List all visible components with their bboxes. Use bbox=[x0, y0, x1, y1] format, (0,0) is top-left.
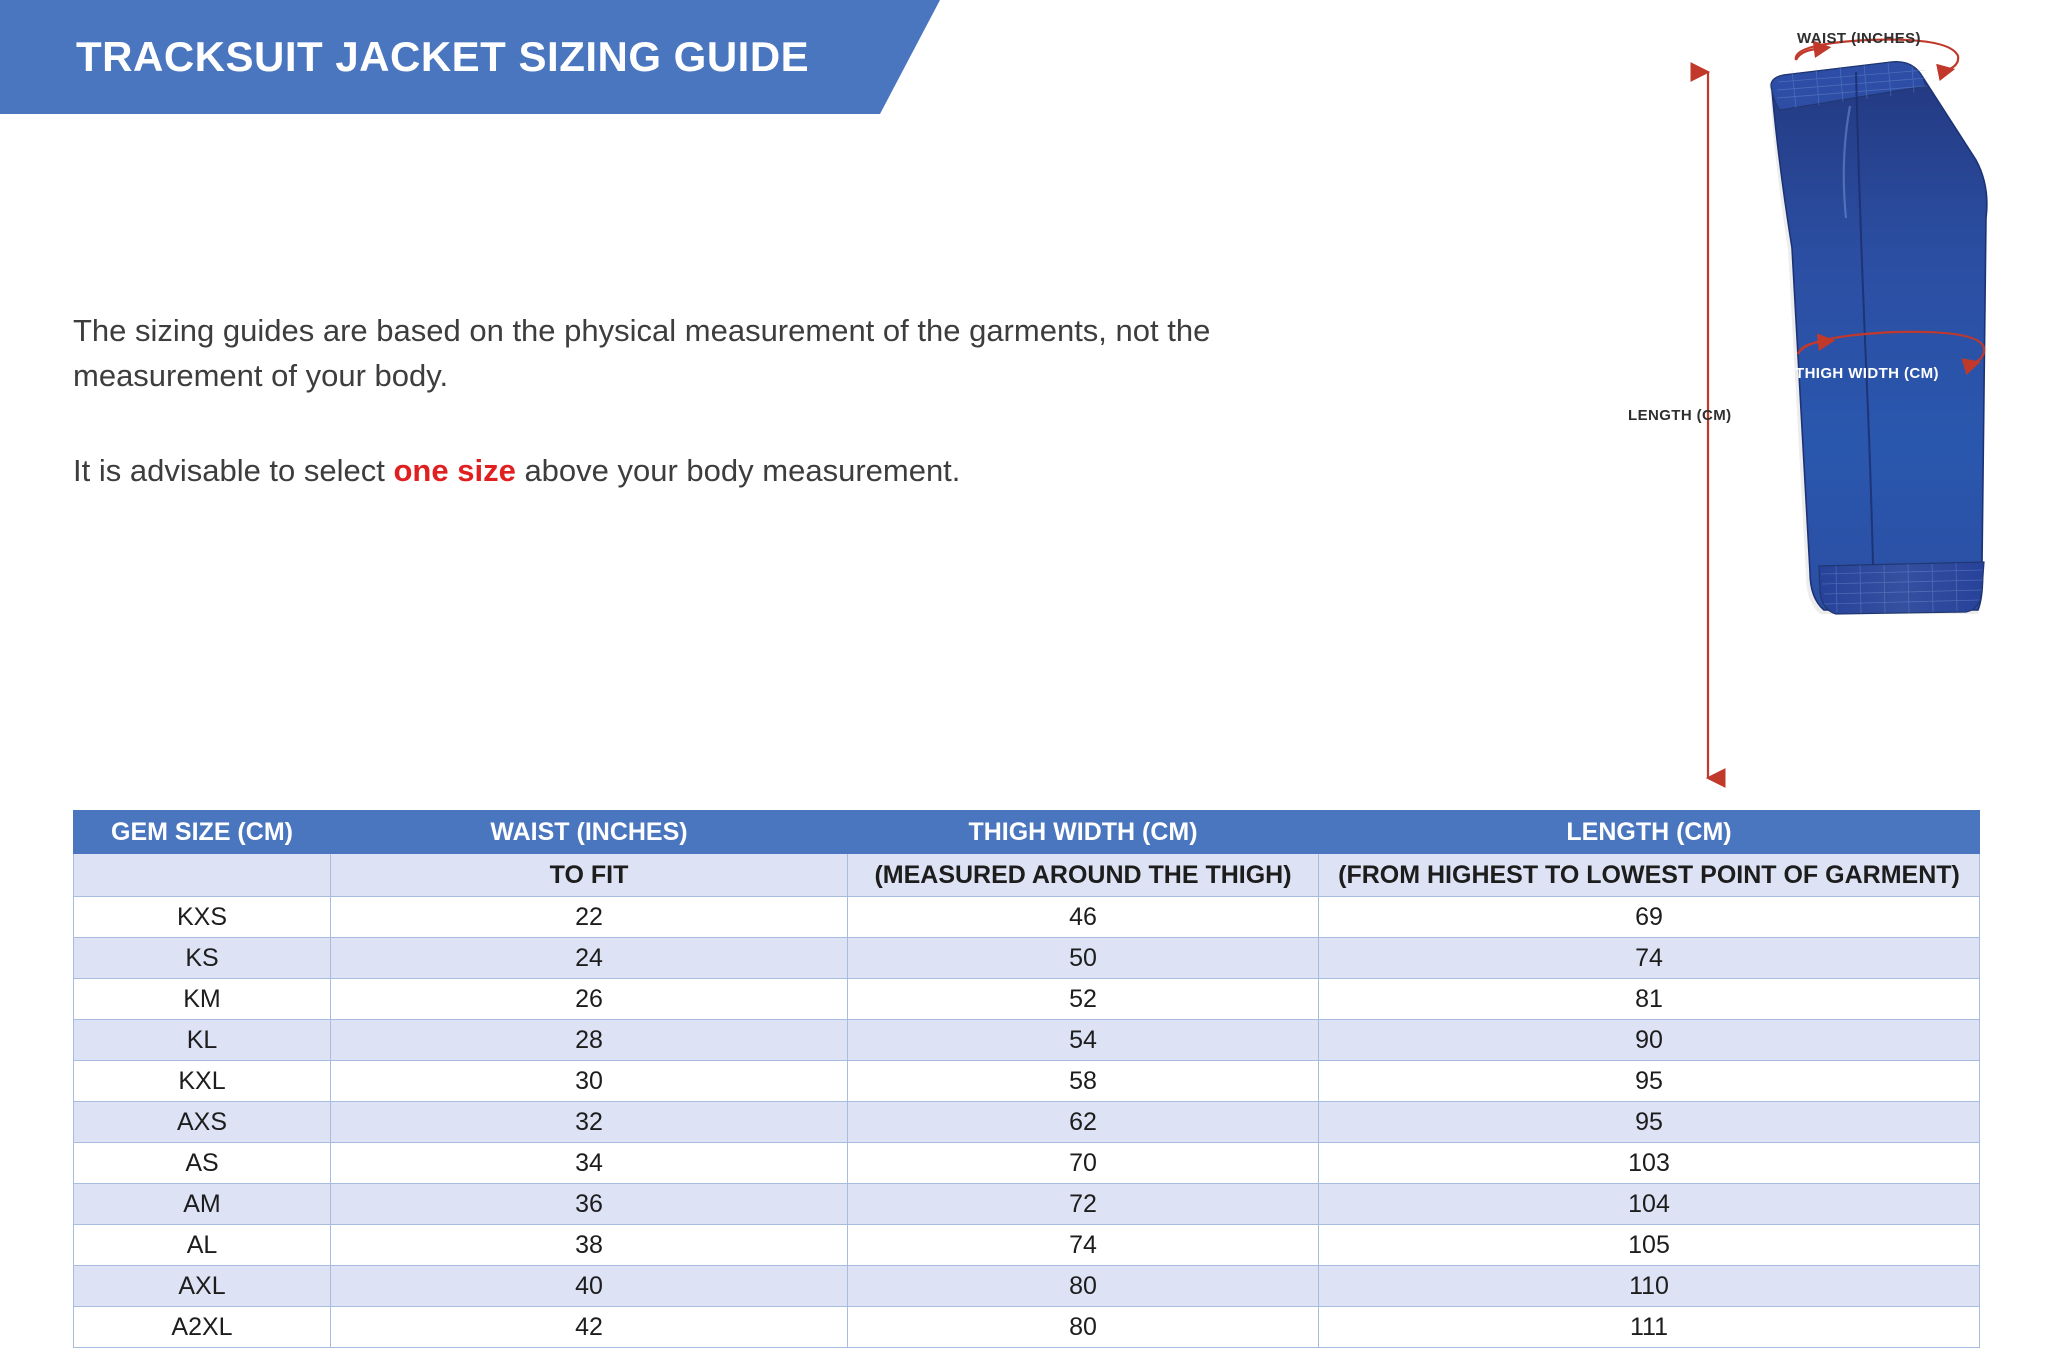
table-row: AXL4080110 bbox=[74, 1266, 1980, 1307]
intro-text-line: The sizing guides are based on the physi… bbox=[73, 313, 1210, 393]
advice-text-after: above your body measurement. bbox=[516, 453, 961, 488]
intro-paragraph-advice: It is advisable to select one size above… bbox=[73, 448, 1233, 493]
cell-length: 81 bbox=[1319, 979, 1980, 1020]
advice-text-accent: one size bbox=[394, 453, 516, 488]
thigh-annotation-label: THIGH WIDTH (CM) bbox=[1795, 365, 1939, 382]
size-chart-table: GEM SIZE (CM) WAIST (INCHES) THIGH WIDTH… bbox=[73, 810, 1980, 1348]
column-header-gem-size: GEM SIZE (CM) bbox=[74, 811, 331, 854]
cell-waist: 40 bbox=[331, 1266, 848, 1307]
cell-thigh: 74 bbox=[848, 1225, 1319, 1266]
cell-waist: 26 bbox=[331, 979, 848, 1020]
cell-length: 74 bbox=[1319, 938, 1980, 979]
cell-waist: 24 bbox=[331, 938, 848, 979]
table-row: KXS224669 bbox=[74, 897, 1980, 938]
advice-text-before: It is advisable to select bbox=[73, 453, 394, 488]
cell-waist: 42 bbox=[331, 1307, 848, 1348]
cell-thigh: 80 bbox=[848, 1266, 1319, 1307]
table-body: TO FIT (MEASURED AROUND THE THIGH) (FROM… bbox=[74, 854, 1980, 1348]
table-header-row: GEM SIZE (CM) WAIST (INCHES) THIGH WIDTH… bbox=[74, 811, 1980, 854]
table-row: AXS326295 bbox=[74, 1102, 1980, 1143]
cell-length: 105 bbox=[1319, 1225, 1980, 1266]
column-header-thigh: THIGH WIDTH (CM) bbox=[848, 811, 1319, 854]
cell-gem-size: KS bbox=[74, 938, 331, 979]
cell-length: 95 bbox=[1319, 1061, 1980, 1102]
subheader-thigh: (MEASURED AROUND THE THIGH) bbox=[848, 854, 1319, 897]
cell-thigh: 58 bbox=[848, 1061, 1319, 1102]
cell-gem-size: AS bbox=[74, 1143, 331, 1184]
table-row: A2XL4280111 bbox=[74, 1307, 1980, 1348]
cell-length: 95 bbox=[1319, 1102, 1980, 1143]
cell-waist: 28 bbox=[331, 1020, 848, 1061]
cell-thigh: 46 bbox=[848, 897, 1319, 938]
cell-thigh: 62 bbox=[848, 1102, 1319, 1143]
waist-measure-arrow-left-tip bbox=[1796, 49, 1816, 60]
cell-gem-size: AL bbox=[74, 1225, 331, 1266]
cell-thigh: 72 bbox=[848, 1184, 1319, 1225]
page-title: TRACKSUIT JACKET SIZING GUIDE bbox=[76, 33, 809, 81]
cell-waist: 34 bbox=[331, 1143, 848, 1184]
table-row: KS245074 bbox=[74, 938, 1980, 979]
cell-waist: 38 bbox=[331, 1225, 848, 1266]
table-row: KM265281 bbox=[74, 979, 1980, 1020]
cell-length: 104 bbox=[1319, 1184, 1980, 1225]
cell-thigh: 54 bbox=[848, 1020, 1319, 1061]
cell-length: 110 bbox=[1319, 1266, 1980, 1307]
column-header-waist: WAIST (INCHES) bbox=[331, 811, 848, 854]
cell-waist: 32 bbox=[331, 1102, 848, 1143]
cell-gem-size: KM bbox=[74, 979, 331, 1020]
cell-gem-size: KXL bbox=[74, 1061, 331, 1102]
cell-gem-size: AXS bbox=[74, 1102, 331, 1143]
cell-gem-size: AM bbox=[74, 1184, 331, 1225]
cell-thigh: 50 bbox=[848, 938, 1319, 979]
column-header-length: LENGTH (CM) bbox=[1319, 811, 1980, 854]
cell-length: 69 bbox=[1319, 897, 1980, 938]
cell-length: 103 bbox=[1319, 1143, 1980, 1184]
length-annotation-label: LENGTH (CM) bbox=[1628, 407, 1732, 424]
table-row: AM3672104 bbox=[74, 1184, 1980, 1225]
cell-gem-size: AXL bbox=[74, 1266, 331, 1307]
table-subheader-row: TO FIT (MEASURED AROUND THE THIGH) (FROM… bbox=[74, 854, 1980, 897]
cell-waist: 22 bbox=[331, 897, 848, 938]
table-row: KL285490 bbox=[74, 1020, 1980, 1061]
garment-illustration bbox=[1620, 10, 2048, 800]
table-row: AS3470103 bbox=[74, 1143, 1980, 1184]
header-banner: TRACKSUIT JACKET SIZING GUIDE bbox=[0, 0, 940, 114]
cell-gem-size: KXS bbox=[74, 897, 331, 938]
cell-waist: 36 bbox=[331, 1184, 848, 1225]
table-row: AL3874105 bbox=[74, 1225, 1980, 1266]
cell-thigh: 52 bbox=[848, 979, 1319, 1020]
subheader-waist: TO FIT bbox=[331, 854, 848, 897]
cell-thigh: 80 bbox=[848, 1307, 1319, 1348]
cell-length: 90 bbox=[1319, 1020, 1980, 1061]
waist-annotation-label: WAIST (INCHES) bbox=[1797, 30, 1921, 47]
cell-thigh: 70 bbox=[848, 1143, 1319, 1184]
cell-waist: 30 bbox=[331, 1061, 848, 1102]
garment-cuff bbox=[1819, 562, 1984, 614]
cell-gem-size: KL bbox=[74, 1020, 331, 1061]
cell-gem-size: A2XL bbox=[74, 1307, 331, 1348]
table-row: KXL305895 bbox=[74, 1061, 1980, 1102]
subheader-gem-size bbox=[74, 854, 331, 897]
cell-length: 111 bbox=[1319, 1307, 1980, 1348]
intro-paragraph-primary: The sizing guides are based on the physi… bbox=[73, 308, 1233, 398]
subheader-length: (FROM HIGHEST TO LOWEST POINT OF GARMENT… bbox=[1319, 854, 1980, 897]
